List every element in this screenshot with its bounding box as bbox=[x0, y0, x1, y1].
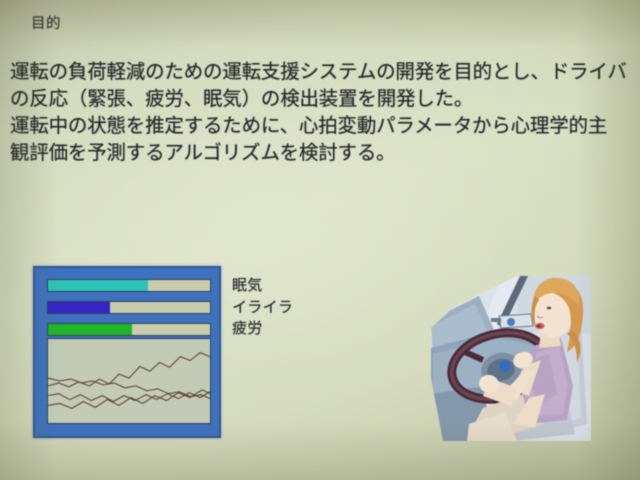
projected-slide: 目的 運転の負荷軽減のための運転支援システムの開発を目的とし、ドライバ の反応（… bbox=[0, 0, 640, 480]
state-label-irritation: イライラ bbox=[232, 297, 293, 319]
fatigue-bar bbox=[47, 323, 211, 336]
heart-rate-variability-graph bbox=[47, 338, 211, 424]
state-label-fatigue: 疲労 bbox=[232, 318, 293, 340]
graph-series-4 bbox=[48, 390, 210, 409]
irritation-bar-fill bbox=[48, 302, 110, 313]
sleepiness-bar bbox=[47, 279, 211, 292]
graph-series-3 bbox=[48, 392, 210, 402]
slide-body-text: 運転の負荷軽減のための運転支援システムの開発を目的とし、ドライバ の反応（緊張、… bbox=[10, 58, 634, 166]
body-line-1: 運転の負荷軽減のための運転支援システムの開発を目的とし、ドライバ bbox=[10, 58, 634, 85]
driver-in-car-illustration bbox=[425, 274, 591, 441]
state-label-list: 眠気 イライラ 疲労 bbox=[232, 275, 293, 340]
body-line-3: 運転中の状態を推定するために、心拍変動パラメータから心理学的主 bbox=[10, 112, 634, 139]
detection-device-panel bbox=[33, 266, 221, 438]
body-line-2: の反応（緊張、疲労、眠気）の検出装置を開発した。 bbox=[10, 85, 634, 112]
page-title: 目的 bbox=[31, 16, 61, 33]
state-bar-list bbox=[47, 279, 211, 345]
body-line-4: 観評価を予測するアルゴリズムを検討する。 bbox=[10, 139, 634, 166]
irritation-bar bbox=[47, 301, 211, 314]
graph-series-1 bbox=[48, 353, 210, 387]
state-label-sleepiness: 眠気 bbox=[232, 275, 293, 297]
fatigue-bar-fill bbox=[48, 324, 132, 335]
sleepiness-bar-fill bbox=[48, 280, 148, 291]
